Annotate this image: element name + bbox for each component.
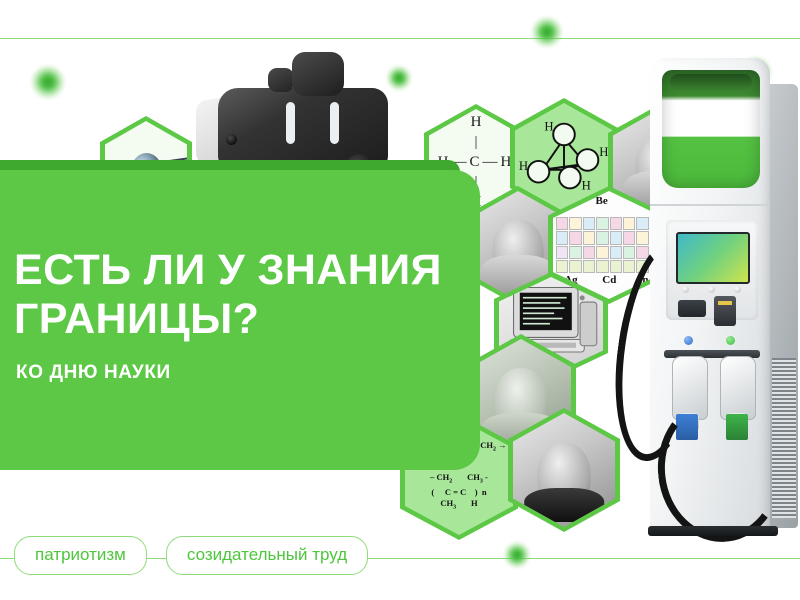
charger-seam (650, 204, 770, 206)
svg-text:H: H (599, 145, 608, 159)
charger-hood-lip (670, 74, 752, 90)
rover-light-slot (286, 102, 295, 144)
svg-text:H: H (519, 159, 528, 173)
tag-list: патриотизм созидательный труд (14, 536, 368, 575)
tag-creative-labour[interactable]: созидательный труд (166, 536, 368, 575)
glow-dot (500, 538, 534, 572)
glow-dot (527, 12, 567, 52)
charger-button[interactable] (734, 286, 741, 293)
rover-sensor-mount (268, 68, 294, 92)
title-line-2: ГРАНИЦЫ? (14, 295, 259, 343)
glow-dot (26, 60, 70, 104)
charger-indicator-green (726, 336, 735, 345)
svg-text:H: H (544, 120, 553, 134)
svg-text:H: H (582, 178, 591, 192)
title-line-1: ЕСТЬ ЛИ У ЗНАНИЯ (14, 246, 442, 294)
banner-stage: H|H—C—H|H HH HH (0, 0, 800, 600)
charging-station (640, 58, 800, 538)
rover-camera-head (292, 52, 344, 96)
page-subtitle: КО ДНЮ НАУКИ (16, 362, 171, 384)
charger-button[interactable] (708, 286, 715, 293)
portrait-icon (513, 413, 615, 527)
charger-base (648, 526, 778, 536)
rover-light-slot (330, 102, 339, 144)
charger-payment-slot[interactable] (714, 296, 736, 326)
rover-sensor (226, 134, 237, 145)
tag-patriotism[interactable]: патриотизм (14, 536, 147, 575)
page-title: ЕСТЬ ЛИ У ЗНАНИЯ ГРАНИЦЫ? (14, 246, 484, 344)
